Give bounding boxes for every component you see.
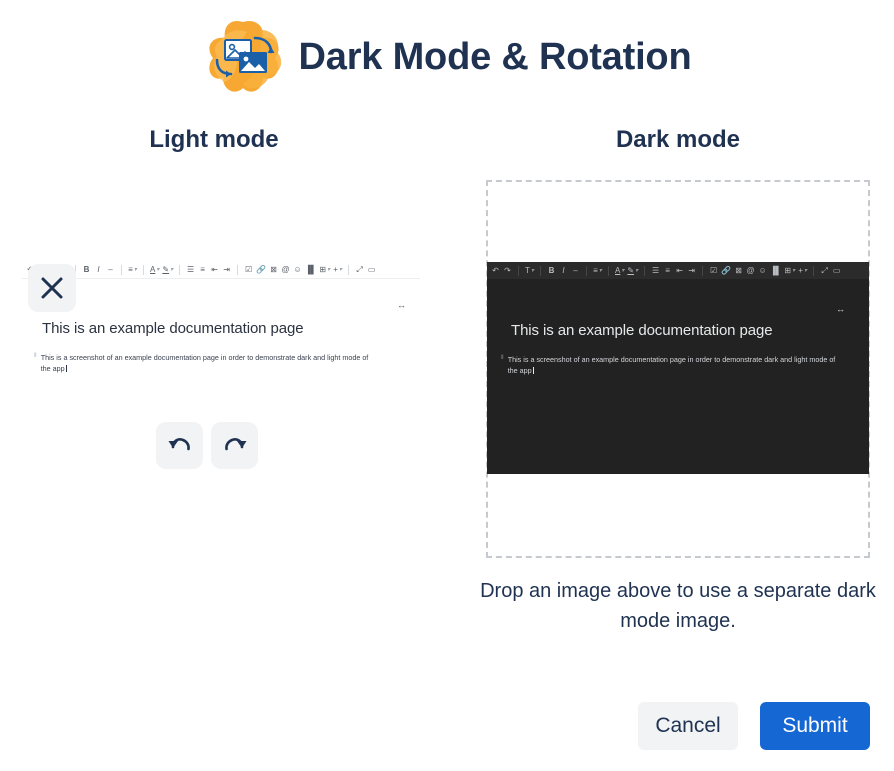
- rotate-right-button[interactable]: [211, 422, 258, 469]
- emoji-icon: ☺: [758, 265, 767, 277]
- toolbar-separator: [702, 266, 703, 276]
- toolbar-separator: [179, 265, 180, 275]
- close-button[interactable]: [28, 264, 76, 312]
- toolbar-separator: [121, 265, 122, 275]
- fullscreen-icon: ⤢: [355, 264, 364, 276]
- toolbar-separator: [540, 266, 541, 276]
- checkbox-icon: ☑: [709, 265, 718, 277]
- undo-icon: ↶: [491, 265, 500, 277]
- image-icon: ⊠: [269, 264, 278, 276]
- bold-icon: B: [547, 265, 556, 277]
- page-title: Dark Mode & Rotation: [299, 38, 692, 76]
- dark-mode-rotation-dialog: Dark Mode & Rotation Light mode Dark mod…: [0, 0, 894, 771]
- dropzone-hint-text: Drop an image above to use a separate da…: [468, 576, 888, 636]
- toolbar-separator: [813, 266, 814, 276]
- checkbox-icon: ☑: [244, 264, 253, 276]
- highlight-color-icon: ✎▾: [162, 264, 173, 276]
- insert-more-icon: +▾: [798, 265, 807, 277]
- editor-toolbar-light: ↶ ↷ T▾ B I – ≡▾ A▾ ✎▾ ☰ ≡ ⇤ ⇥ ☑ 🔗 ⊠ @ ☺ …: [22, 262, 420, 279]
- italic-icon: I: [94, 264, 103, 276]
- resize-handle: ↔: [397, 300, 404, 310]
- rotation-controls: [156, 422, 258, 469]
- document-body: This is a screenshot of an example docum…: [508, 354, 841, 376]
- redo-rotate-right-icon: [222, 433, 248, 459]
- columns-icon: ▐▌: [770, 265, 781, 277]
- strikethrough-icon: –: [571, 265, 580, 277]
- image-icon: ⊠: [734, 265, 743, 277]
- editor-toolbar-dark: ↶ ↷ T▾ B I – ≡▾ A▾ ✎▾ ☰ ≡ ⇤ ⇥ ☑ 🔗 ⊠ @ ☺ …: [487, 262, 869, 279]
- dark-mode-heading: Dark mode: [468, 126, 888, 154]
- columns-icon: ▐▌: [305, 264, 316, 276]
- fullscreen-icon: ⤢: [820, 265, 829, 277]
- text-color-icon: A▾: [150, 264, 159, 276]
- text-style-icon: T▾: [525, 265, 534, 277]
- emoji-icon: ☺: [293, 264, 302, 276]
- numbered-list-icon: ≡: [198, 264, 207, 276]
- close-x-icon: [39, 275, 65, 301]
- align-icon: ≡▾: [128, 264, 137, 276]
- indent-icon: ⇥: [687, 265, 696, 277]
- resize-handle: ↔: [836, 304, 843, 314]
- submit-button[interactable]: Submit: [760, 702, 870, 750]
- link-icon: 🔗: [721, 265, 731, 277]
- light-mode-image-preview[interactable]: ↶ ↷ T▾ B I – ≡▾ A▾ ✎▾ ☰ ≡ ⇤ ⇥ ☑ 🔗 ⊠ @ ☺ …: [22, 262, 420, 382]
- toolbar-separator: [518, 266, 519, 276]
- block-drag-handle: ‖: [501, 354, 503, 376]
- document-body: This is a screenshot of an example docum…: [41, 352, 374, 374]
- indent-icon: ⇥: [222, 264, 231, 276]
- dialog-header: Dark Mode & Rotation: [0, 16, 894, 98]
- toolbar-separator: [143, 265, 144, 275]
- table-icon: ⊞▾: [319, 264, 330, 276]
- toolbar-separator: [586, 266, 587, 276]
- cancel-button[interactable]: Cancel: [638, 702, 738, 750]
- link-icon: 🔗: [256, 264, 266, 276]
- toolbar-separator: [644, 266, 645, 276]
- mention-icon: @: [281, 264, 290, 276]
- undo-rotate-left-icon: [167, 433, 193, 459]
- mention-icon: @: [746, 265, 755, 277]
- redo-icon: ↷: [503, 265, 512, 277]
- dark-mode-image-preview[interactable]: ↶ ↷ T▾ B I – ≡▾ A▾ ✎▾ ☰ ≡ ⇤ ⇥ ☑ 🔗 ⊠ @ ☺ …: [487, 262, 869, 474]
- dialog-footer: Cancel Submit: [0, 702, 894, 750]
- highlight-color-icon: ✎▾: [627, 265, 638, 277]
- strikethrough-icon: –: [106, 264, 115, 276]
- align-icon: ≡▾: [593, 265, 602, 277]
- outdent-icon: ⇤: [675, 265, 684, 277]
- italic-icon: I: [559, 265, 568, 277]
- image-rotation-logo-icon: [203, 16, 285, 98]
- document-title: This is an example documentation page: [42, 320, 303, 337]
- bullet-list-icon: ☰: [186, 264, 195, 276]
- outdent-icon: ⇤: [210, 264, 219, 276]
- document-title: This is an example documentation page: [511, 322, 772, 339]
- comment-icon: ▭: [367, 264, 376, 276]
- toolbar-separator: [608, 266, 609, 276]
- numbered-list-icon: ≡: [663, 265, 672, 277]
- insert-more-icon: +▾: [333, 264, 342, 276]
- rotate-left-button[interactable]: [156, 422, 203, 469]
- bullet-list-icon: ☰: [651, 265, 660, 277]
- toolbar-separator: [237, 265, 238, 275]
- toolbar-separator: [348, 265, 349, 275]
- text-color-icon: A▾: [615, 265, 624, 277]
- block-drag-handle: ‖: [34, 352, 36, 374]
- table-icon: ⊞▾: [784, 265, 795, 277]
- bold-icon: B: [82, 264, 91, 276]
- light-mode-heading: Light mode: [4, 126, 424, 154]
- comment-icon: ▭: [832, 265, 841, 277]
